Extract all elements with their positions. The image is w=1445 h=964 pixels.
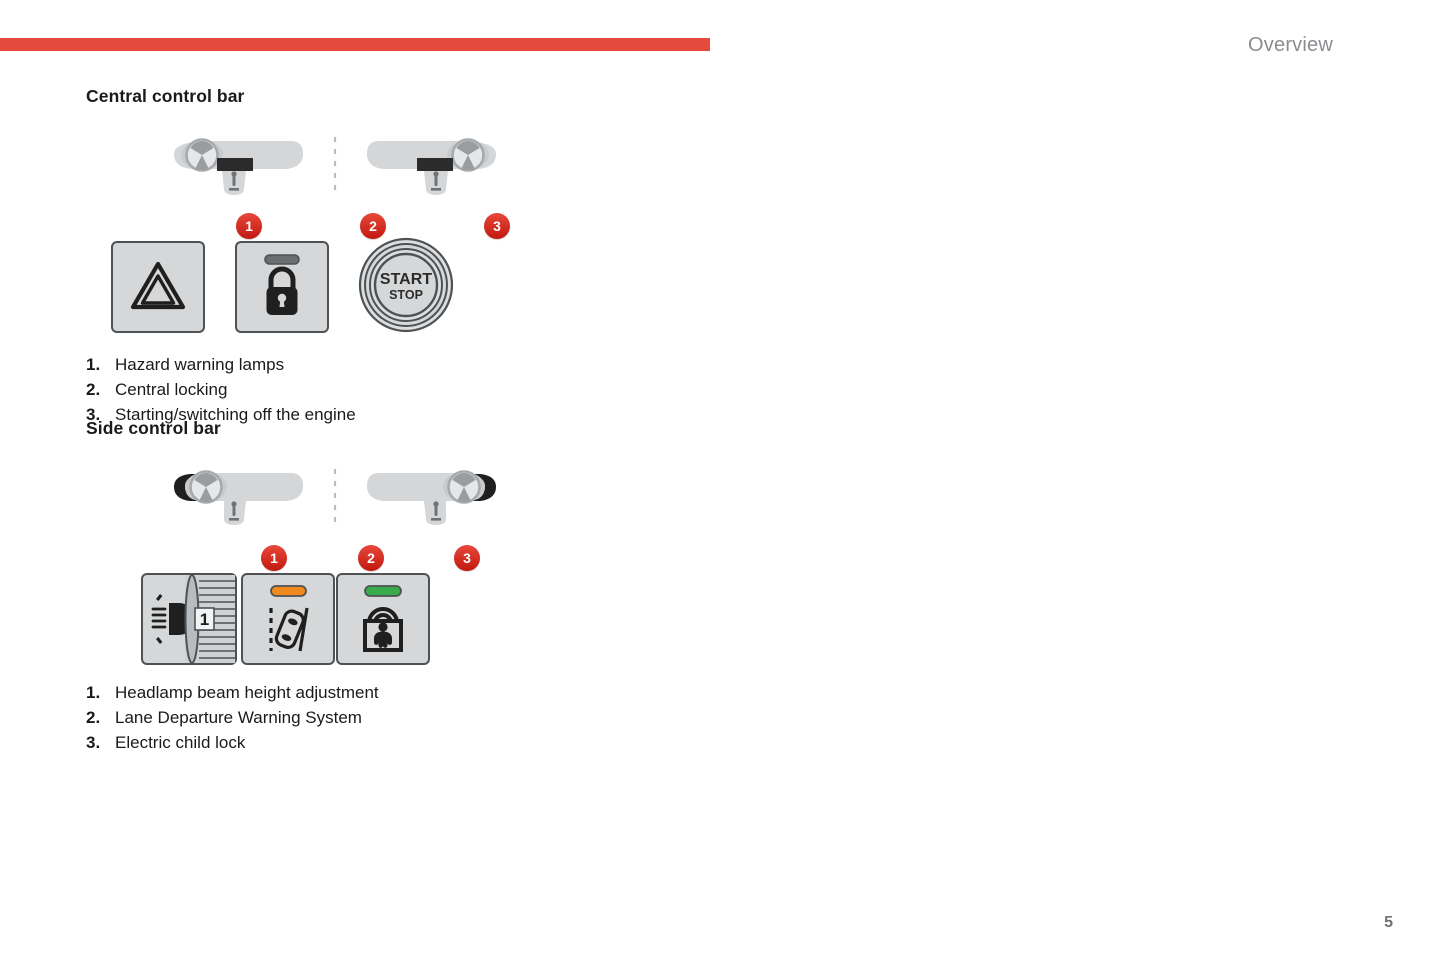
callout-badge-1: 1	[261, 545, 287, 571]
page-header-title: Overview	[1248, 34, 1333, 57]
hazard-warning-triangle-icon	[113, 243, 203, 331]
caption-label: Hazard warning lamps	[115, 353, 284, 378]
callout-badge-2: 2	[360, 213, 386, 239]
child-lock-icon	[365, 609, 401, 650]
lock-status-indicator	[265, 255, 299, 264]
caption-number: 2.	[86, 706, 115, 731]
callout-badge-1: 1	[236, 213, 262, 239]
hazard-warning-button[interactable]	[111, 241, 205, 333]
child-lock-status-indicator	[365, 586, 401, 596]
central-bar-highlight	[217, 158, 253, 171]
central-control-bar-caption-list: 1. Hazard warning lamps 2. Central locki…	[86, 353, 510, 428]
side-control-bar-caption-list: 1. Headlamp beam height adjustment 2. La…	[86, 681, 510, 756]
dashboard-rhd	[367, 140, 496, 196]
lane-departure-warning-button[interactable]	[241, 573, 335, 665]
headlamp-beam-height-button[interactable]: 1	[141, 573, 237, 665]
section-side-control-bar: Side control bar	[86, 418, 510, 756]
list-item: 3. Electric child lock	[86, 731, 510, 756]
central-locking-button[interactable]	[235, 241, 329, 333]
dashboard-diagram-side	[160, 467, 510, 535]
callout-badge-3: 3	[454, 545, 480, 571]
dashboard-lhd	[174, 472, 303, 526]
list-item: 1. Hazard warning lamps	[86, 353, 510, 378]
central-control-bar-buttons: 1 2	[86, 213, 510, 335]
caption-label: Electric child lock	[115, 731, 245, 756]
caption-number: 1.	[86, 681, 115, 706]
child-figure	[374, 622, 392, 648]
section-central-control-bar: Central control bar	[86, 86, 510, 428]
steering-wheel-icon	[191, 472, 222, 503]
dashboard-diagram-central	[160, 135, 510, 203]
section-heading: Side control bar	[86, 418, 510, 439]
stop-label: STOP	[389, 288, 423, 302]
dashboard-rhd	[367, 472, 496, 526]
start-stop-button[interactable]: START STOP	[358, 237, 454, 333]
thumbwheel-value: 1	[200, 610, 209, 629]
lane-departure-warning-icon	[271, 608, 307, 651]
header-accent-rule	[0, 38, 710, 51]
dashboard-lhd	[174, 140, 303, 196]
thumbwheel-control: 1	[185, 575, 235, 663]
caption-label: Central locking	[115, 378, 227, 403]
caption-label: Lane Departure Warning System	[115, 706, 362, 731]
list-item: 1. Headlamp beam height adjustment	[86, 681, 510, 706]
electric-child-lock-button[interactable]	[336, 573, 430, 665]
steering-wheel-icon	[187, 140, 218, 171]
padlock-closed-icon	[267, 269, 298, 315]
caption-label: Headlamp beam height adjustment	[115, 681, 379, 706]
page-number: 5	[1384, 914, 1393, 932]
callout-badge-3: 3	[484, 213, 510, 239]
list-item: 2. Central locking	[86, 378, 510, 403]
lane-departure-status-indicator	[271, 586, 306, 596]
side-control-bar-buttons: 1	[86, 545, 510, 663]
callout-badge-2: 2	[358, 545, 384, 571]
start-label: START	[380, 271, 432, 288]
start-stop-button-icon: START STOP	[358, 237, 454, 333]
caption-number: 3.	[86, 731, 115, 756]
caption-number: 2.	[86, 378, 115, 403]
section-heading: Central control bar	[86, 86, 510, 107]
caption-number: 1.	[86, 353, 115, 378]
list-item: 2. Lane Departure Warning System	[86, 706, 510, 731]
